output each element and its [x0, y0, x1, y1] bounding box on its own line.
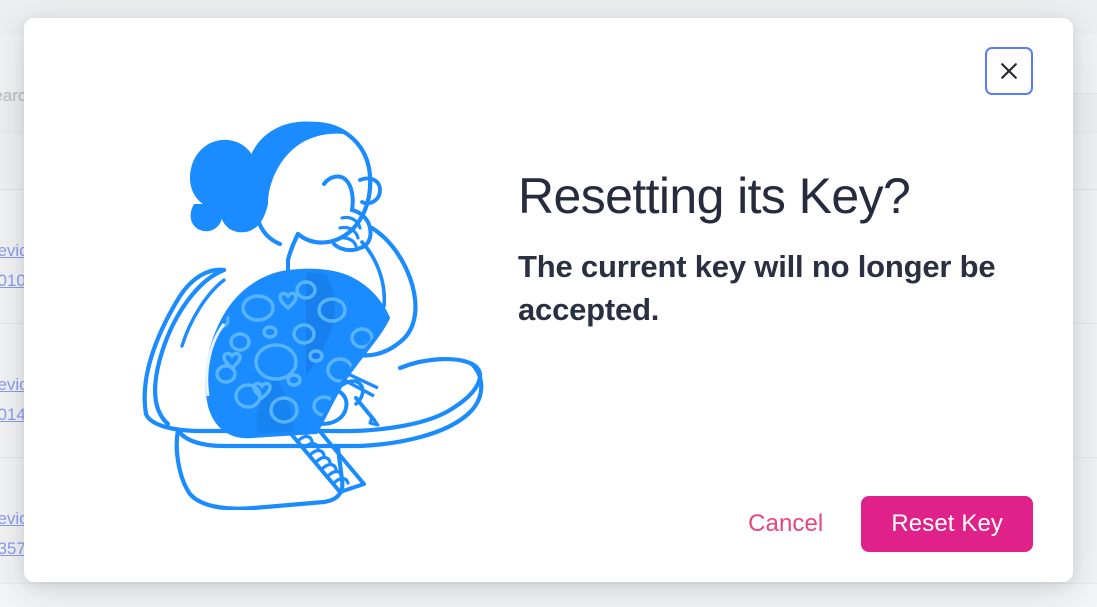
dialog-actions: Cancel Reset Key [748, 496, 1033, 552]
close-icon [1000, 62, 1018, 80]
reset-key-confirmation-dialog: Resetting its Key? The current key will … [24, 18, 1073, 582]
dialog-body-text: The current key will no longer be accept… [518, 246, 1028, 332]
dialog-title: Resetting its Key? [518, 168, 1038, 224]
illustration-svg [128, 80, 508, 510]
screen: Search Title Action device- 00105 device… [0, 0, 1097, 607]
person-thinking-illustration [128, 80, 508, 510]
cancel-button[interactable]: Cancel [748, 510, 823, 538]
dialog-content: Resetting its Key? The current key will … [518, 168, 1038, 332]
reset-key-button[interactable]: Reset Key [861, 496, 1033, 552]
close-icon-button[interactable] [985, 47, 1033, 95]
background-footer-strip [0, 583, 1097, 607]
